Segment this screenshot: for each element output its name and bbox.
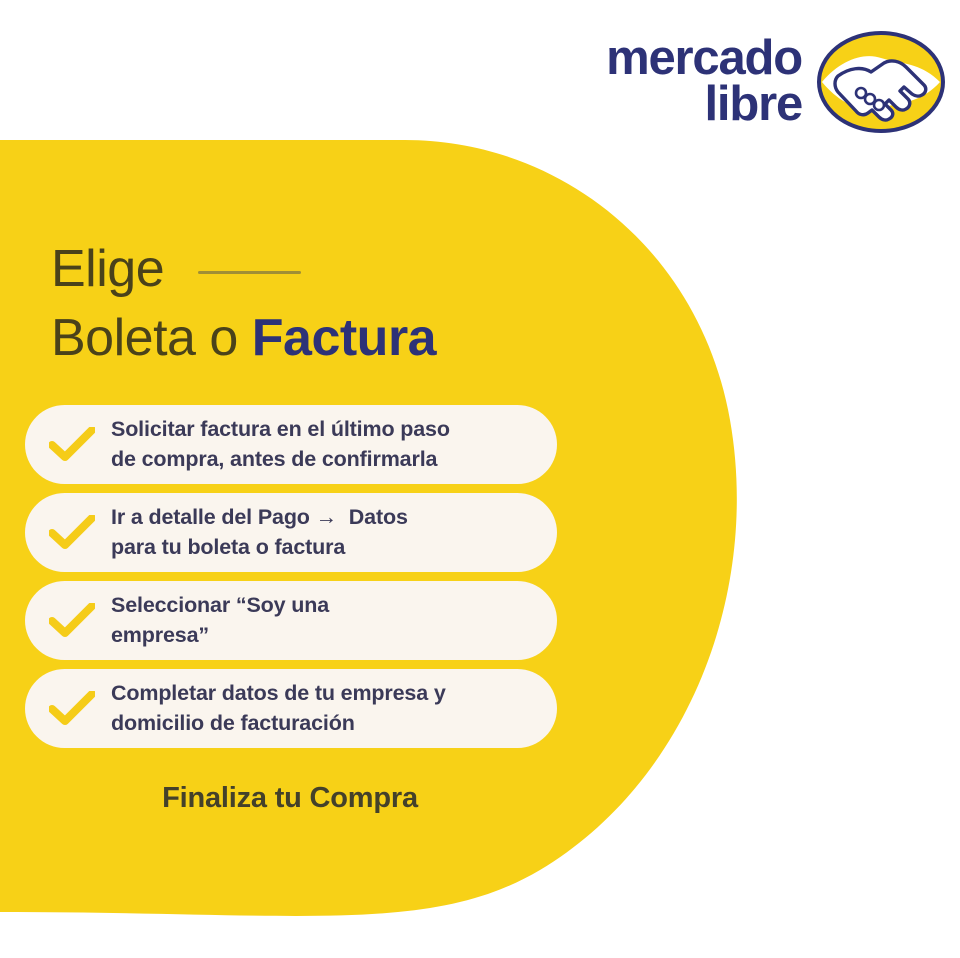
promo-banner: mercado libre Elige Boleta o Factura — [0, 0, 960, 958]
headline-regular-part: Boleta o — [51, 309, 252, 367]
logo-line-2: libre — [705, 82, 802, 128]
checklist-item-text: Ir a detalle del Pago → Datos para tu bo… — [111, 503, 537, 562]
checklist-item-text: Completar datos de tu empresa y domicili… — [111, 679, 537, 738]
check-icon — [33, 691, 111, 727]
checklist-item: Completar datos de tu empresa y domicili… — [25, 669, 557, 748]
checklist-item-line: Seleccionar “Soy una — [111, 591, 537, 621]
checklist-item-line: de compra, antes de confirmarla — [111, 445, 537, 475]
headline-elige: Elige — [51, 243, 164, 295]
headline-row-one: Elige — [51, 243, 571, 295]
logo-line-1: mercado — [606, 36, 802, 82]
mercadolibre-logo[interactable]: mercado libre — [606, 30, 946, 134]
checklist-item-line: domicilio de facturación — [111, 709, 537, 739]
right-arrow-icon: → — [316, 505, 338, 529]
checklist: Solicitar factura en el último paso de c… — [25, 405, 557, 748]
checklist-item-line: Completar datos de tu empresa y — [111, 679, 537, 709]
checklist-step-from: Ir a detalle del Pago — [111, 505, 310, 529]
headline-divider-rule — [198, 271, 301, 274]
check-icon — [33, 515, 111, 551]
headline-block: Elige Boleta o Factura — [51, 243, 571, 366]
headline-row-two: Boleta o Factura — [51, 311, 571, 366]
checklist-item: Seleccionar “Soy una empresa” — [25, 581, 557, 660]
headline-bold-part: Factura — [252, 309, 436, 367]
logo-wordmark: mercado libre — [606, 36, 802, 127]
footer-cta-text: Finaliza tu Compra — [0, 782, 580, 815]
checklist-item-line: empresa” — [111, 621, 537, 651]
checklist-item: Solicitar factura en el último paso de c… — [25, 405, 557, 484]
handshake-oval-icon — [816, 30, 946, 134]
checklist-item-text: Solicitar factura en el último paso de c… — [111, 415, 537, 474]
checklist-item: Ir a detalle del Pago → Datos para tu bo… — [25, 493, 557, 572]
checklist-item-line: Ir a detalle del Pago → Datos — [111, 503, 537, 533]
checklist-step-to: Datos — [349, 505, 408, 529]
checklist-item-line: para tu boleta o factura — [111, 533, 537, 563]
check-icon — [33, 603, 111, 639]
checklist-item-line: Solicitar factura en el último paso — [111, 415, 537, 445]
check-icon — [33, 427, 111, 463]
checklist-item-text: Seleccionar “Soy una empresa” — [111, 591, 537, 650]
